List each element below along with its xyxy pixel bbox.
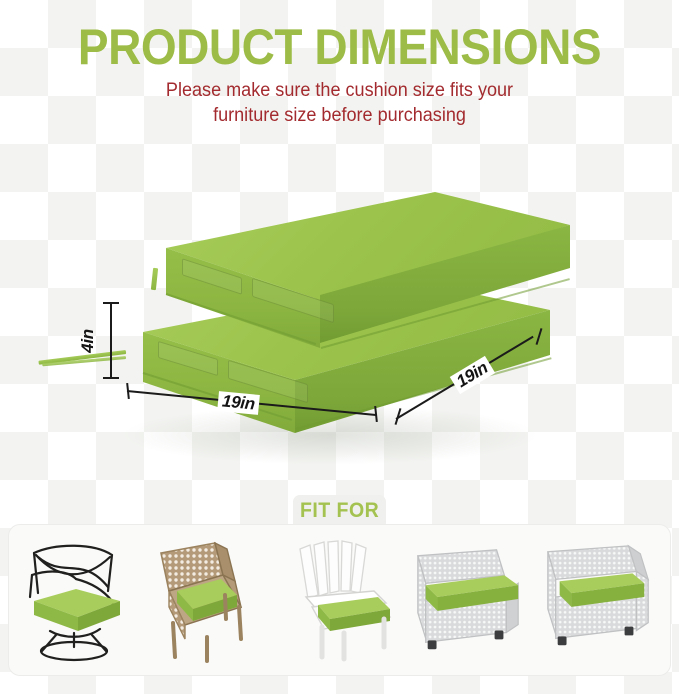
subtitle-line-2: furniture size before purchasing (17, 103, 662, 128)
metal-swivel-chair-icon (20, 535, 140, 665)
product-dimensions-illustration: 4in 19in 19in (0, 150, 679, 480)
dimension-height-line (110, 303, 112, 378)
fit-item-wicker-armless-sectional (408, 533, 530, 665)
adirondack-chair-icon (278, 535, 400, 665)
dimension-height-cap-bottom (103, 377, 119, 379)
fit-for-label: FIT FOR (300, 499, 379, 523)
page-title: PRODUCT DIMENSIONS (27, 18, 652, 76)
fit-item-wicker-corner-sectional (538, 533, 660, 665)
cushion-top (150, 190, 570, 350)
wicker-dining-chair-icon (149, 535, 271, 665)
dimension-height-cap-top (103, 302, 119, 304)
dimension-width-label: 19in (217, 391, 260, 415)
fit-for-badge: FIT FOR (293, 495, 386, 527)
wicker-armless-sectional-icon (408, 535, 530, 665)
page-subtitle: Please make sure the cushion size fits y… (17, 78, 662, 128)
fit-for-panel (8, 524, 671, 676)
subtitle-line-1: Please make sure the cushion size fits y… (17, 78, 662, 103)
dimension-height-label: 4in (78, 329, 98, 353)
fit-item-metal-swivel-chair (19, 533, 141, 665)
fit-item-wicker-dining-chair (149, 533, 271, 665)
fit-item-adirondack-chair (278, 533, 400, 665)
wicker-corner-sectional-icon (538, 535, 660, 665)
